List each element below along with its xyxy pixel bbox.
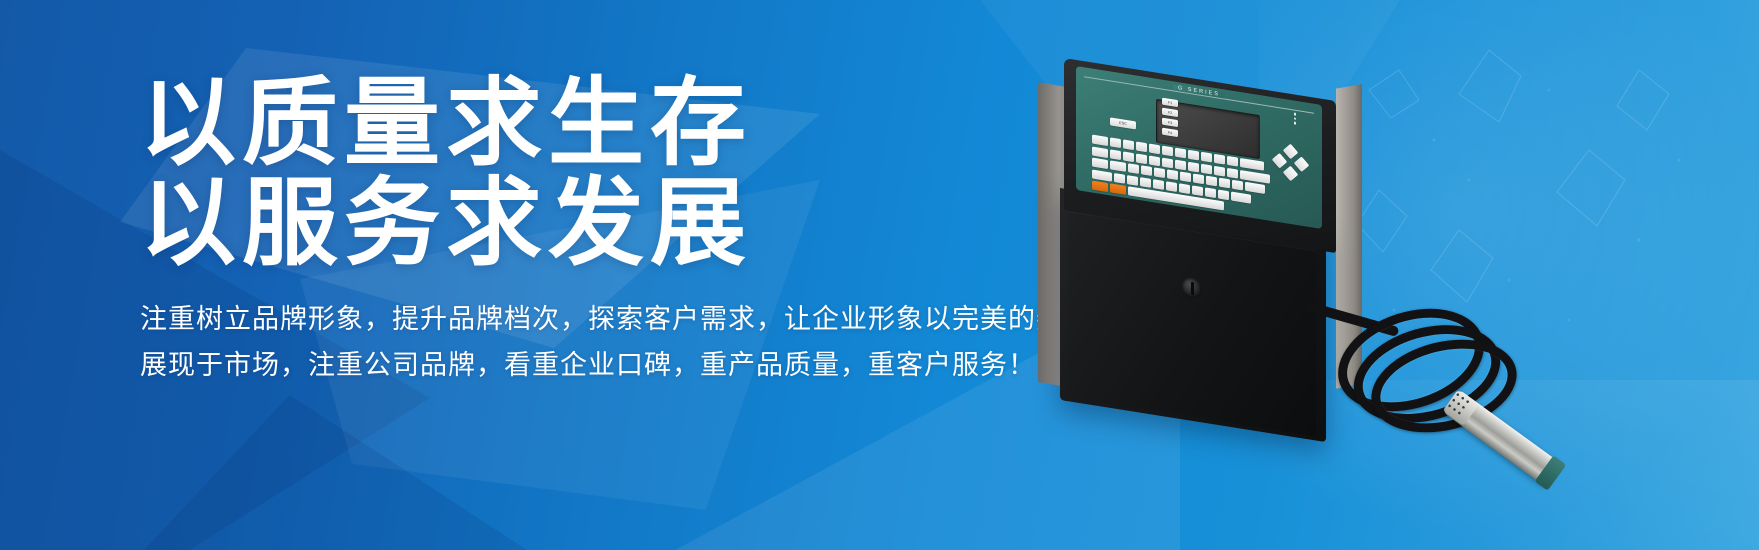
key[interactable]	[1219, 178, 1230, 189]
key[interactable]	[1218, 189, 1229, 200]
key[interactable]	[1123, 139, 1134, 150]
key[interactable]	[1180, 171, 1191, 182]
key[interactable]	[1188, 150, 1199, 161]
key[interactable]	[1110, 137, 1121, 148]
subtitle-line-2: 展现于市场，注重公司品牌，看重企业口碑，重产品质量，重客户服务！！！	[140, 342, 1000, 388]
key[interactable]	[1123, 151, 1134, 162]
headline-line-2: 以服务求发展	[140, 174, 1000, 274]
key-del[interactable]	[1232, 180, 1243, 191]
key[interactable]	[1149, 144, 1160, 155]
key[interactable]	[1188, 161, 1199, 172]
led-dot	[1294, 112, 1297, 115]
key[interactable]	[1227, 167, 1238, 178]
key[interactable]	[1167, 169, 1178, 180]
key-f4[interactable]: F4	[1162, 128, 1178, 138]
print-head-assembly	[1330, 268, 1660, 518]
key[interactable]	[1214, 154, 1225, 165]
inkjet-printer-device: G SERIES F1 F2 F3 F4 ESC	[1024, 58, 1334, 388]
key[interactable]	[1128, 163, 1139, 174]
key-shift-right[interactable]	[1231, 191, 1251, 203]
print-head-nozzle	[1444, 390, 1562, 487]
key[interactable]	[1192, 185, 1203, 196]
key[interactable]	[1136, 153, 1147, 164]
key[interactable]	[1206, 176, 1217, 187]
key[interactable]	[1149, 155, 1160, 166]
key[interactable]	[1110, 149, 1121, 160]
key[interactable]	[1140, 177, 1151, 188]
headline: 以质量求生存 以服务求发展	[140, 74, 1000, 274]
key[interactable]	[1227, 156, 1238, 167]
door-latch-icon	[1182, 276, 1202, 299]
key-f2[interactable]: F2	[1162, 108, 1178, 118]
key-enter[interactable]	[1240, 158, 1264, 171]
key[interactable]	[1162, 157, 1173, 168]
key[interactable]	[1154, 167, 1165, 178]
key[interactable]	[1114, 173, 1125, 184]
headline-line-1: 以质量求生存	[140, 70, 752, 177]
key[interactable]	[1175, 148, 1186, 159]
key[interactable]	[1193, 174, 1204, 185]
key-alt[interactable]	[1110, 160, 1126, 172]
key[interactable]	[1201, 163, 1212, 174]
status-led-dots-icon	[1294, 112, 1297, 124]
key[interactable]	[1205, 187, 1216, 198]
key[interactable]	[1127, 175, 1138, 186]
banner-copy: 以质量求生存 以服务求发展 注重树立品牌形象，提升品牌档次，探索客户需求，让企业…	[140, 74, 1000, 389]
key-shift-left[interactable]	[1092, 169, 1112, 181]
led-dot	[1294, 117, 1297, 120]
key-f3[interactable]: F3	[1162, 118, 1178, 128]
key[interactable]	[1214, 165, 1225, 176]
key-f1[interactable]: F1	[1162, 98, 1178, 108]
promotional-banner: 以质量求生存 以服务求发展 注重树立品牌形象，提升品牌档次，探索客户需求，让企业…	[0, 0, 1759, 550]
nav-up-key[interactable]	[1283, 144, 1299, 160]
subtitle-line-1: 注重树立品牌形象，提升品牌档次，探索客户需求，让企业形象以完美的姿态	[140, 296, 1000, 342]
key-start[interactable]	[1092, 181, 1108, 193]
key-stop[interactable]	[1110, 183, 1126, 195]
led-dot	[1294, 121, 1297, 124]
key-enc[interactable]	[1092, 135, 1108, 147]
subtitle: 注重树立品牌形象，提升品牌档次，探索客户需求，让企业形象以完美的姿态 展现于市场…	[140, 296, 1000, 389]
key[interactable]	[1162, 146, 1173, 157]
key[interactable]	[1153, 179, 1164, 190]
key[interactable]	[1141, 165, 1152, 176]
key-caps[interactable]	[1092, 146, 1108, 158]
key-enter-2[interactable]	[1245, 182, 1265, 194]
function-key-group: F1 F2 F3 F4	[1162, 98, 1178, 141]
key[interactable]	[1136, 142, 1147, 153]
key-ctrl[interactable]	[1092, 158, 1108, 170]
device-door	[1068, 211, 1316, 436]
key[interactable]	[1166, 181, 1177, 192]
key-esc[interactable]: ESC	[1110, 117, 1136, 129]
key[interactable]	[1201, 152, 1212, 163]
key[interactable]	[1179, 183, 1190, 194]
key[interactable]	[1175, 159, 1186, 170]
